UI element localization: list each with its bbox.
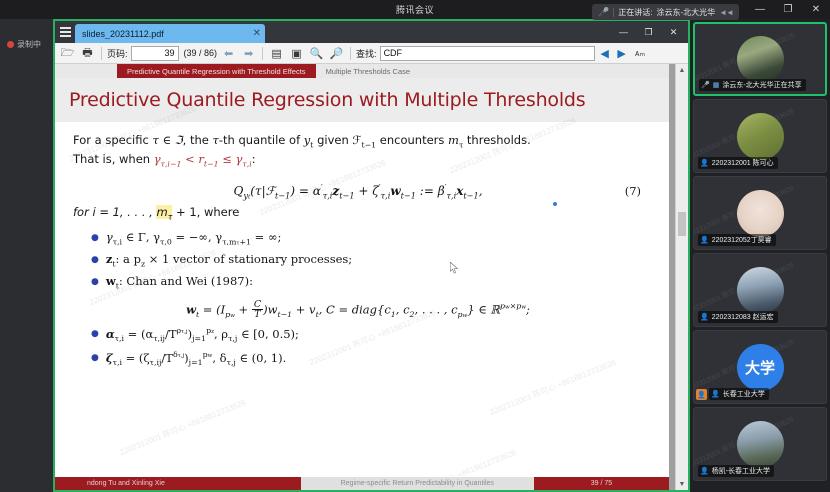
active-speaker-indicator: 🎤 正在讲话: 涂云东-北大光华 ◄◄ [592,4,739,20]
p2-part-g: τ,i [242,160,251,169]
match-case-icon[interactable]: ᴀₘ [632,45,649,62]
b3-b: : Chan and Wei (1987): [119,274,253,288]
tencent-meeting-window: 腾讯会议 — ❐ ✕ 🎤 正在讲话: 涂云东-北大光华 ◄◄ 录制中 [0,0,830,492]
eq7-r14: t−1 [463,190,478,200]
participant-roster[interactable]: 2202312001 陈可心 +8618812733626 🎤 ▦ 涂云东-北大… [690,19,830,492]
mouse-pointer-icon [450,262,459,275]
footer-authors: ndong Tu and Xinling Xie [55,480,301,487]
b1-b: ∈ Γ, γ [122,230,160,244]
p2-part-e: t−1 [204,160,219,169]
bullet-icon: ● [91,230,99,246]
participant-name: 2202312052丁昊睿 [712,235,772,245]
next-page-icon[interactable]: ➡ [240,45,257,62]
b2-c: × 1 vector of stationary processes; [145,252,352,266]
eqw-i-sup3: ×p [510,301,522,310]
eqw-f: , C = diag{c [319,302,391,316]
mic-icon: 🎤 [701,81,710,89]
pdf-maximize-icon[interactable]: ❐ [636,22,661,42]
participant-nametag-0: 🎤 ▦ 涂云东-北大光华正在共享 [699,79,806,91]
person-icon: 👤 [700,467,709,475]
b5-f: ∈ (0, 1). [236,350,286,364]
participant-name: 长春工业大学 [723,389,765,399]
person-icon: 👤 [700,236,709,244]
b5-b: = (ζ [122,350,150,364]
p2-part-f: ≤ γ [219,152,243,166]
bullet-1-text: γτ,i ∈ Γ, γτ,0 = −∞, γτ,mτ+1 = ∞; [106,230,282,246]
tab-close-icon[interactable]: ✕ [253,28,261,39]
meeting-app-title: 腾讯会议 [396,3,434,16]
open-file-icon[interactable]: 🗁 [59,45,76,62]
b4-c: /T [165,327,177,341]
b4-f: ∈ [0, 0.5); [237,327,299,341]
participant-name: 涂云东-北大光华正在共享 [722,80,801,90]
toolbar-separator-3 [350,47,351,60]
share-screen-icon: ▦ [713,81,720,89]
b1-s3: τ,m [222,237,236,246]
fraction-c-over-t: CT [252,300,263,321]
p2-part-d: < r [181,152,203,166]
slide-section-item: Multiple Thresholds Case [316,67,421,76]
watermark: 2202312001 陈可心 +8618812733626 [118,397,248,458]
pdf-reader-window: slides_20231112.pdf ✕ — ❐ ✕ 🗁 🖶 页码: (39 … [55,21,688,490]
pdf-vertical-scrollbar[interactable]: ▲ ▼ [675,64,688,490]
participant-tile-1[interactable]: 2202312001 陈可心 +8618812733626 👤 22023120… [693,99,827,173]
hamburger-menu-icon[interactable] [55,21,75,43]
bullet-4-text: ατ,i = (ατ,ij/Tρτ,j)j=1pz, ρτ,j ∈ [0, 0.… [106,326,299,343]
list-item: ● ατ,i = (ατ,ij/Tρτ,j)j=1pz, ρτ,j ∈ [0, … [91,326,643,343]
scrollbar-thumb[interactable] [678,212,686,236]
b1-s2: τ,0 [160,237,172,246]
p1-part-j: t−1 [361,140,376,149]
eqw-j: ; [526,302,530,316]
participant-name: 杨凯-长春工业大学 [712,466,770,476]
slide-body: 2202312001 陈可心 +8618812733626 2202312001… [55,122,669,474]
eq7-r4: τ,i [323,190,333,200]
b4-sub: j=1 [192,335,206,344]
footer-page-number: 39 / 75 [534,480,669,487]
b1-s3c: +1 [239,237,251,246]
b4-s3: τ,j [228,335,237,344]
equation-7-row: Qyt(τ|ℱt−1) = α′τ,izt−1 + ζ′τ,iwt−1 := β… [73,182,643,200]
b5-s: τ,i [113,358,122,367]
scroll-down-icon[interactable]: ▼ [676,478,688,490]
equation-w-process: wt = (Ipw + CT)wt−1 + vt, C = diag{c1, c… [73,300,643,321]
participant-nametag-4: 👤 长春工业大学 [709,388,769,400]
for-line-b: + 1, where [172,205,239,219]
avatar [737,190,784,237]
b1-a: γ [106,230,113,244]
participant-tile-2[interactable]: 2202312001 陈可心 +8618812733626 👤 22023120… [693,176,827,250]
slide-paragraph-1: For a specific τ ∈ ℑ, the τ-th quantile … [73,132,643,151]
slide-section-active: Predictive Quantile Regression with Thre… [117,64,316,78]
participant-nametag-3: 👤 2202312083 赵运宏 [698,311,778,323]
b1-d: = ∞; [251,230,281,244]
eq7-r3: ) = α [290,184,320,198]
eq7-r15: , [479,184,483,198]
pdf-tab-title: slides_20231112.pdf [82,29,247,39]
list-item: ● wt: Chan and Wei (1987): [91,274,643,290]
recording-badge: 录制中 [7,39,41,50]
eqw-e: + v [292,302,315,316]
print-icon[interactable]: 🖶 [79,45,96,62]
p1-part-e: -th quantile of [219,133,304,147]
participant-name: 2202312083 赵运宏 [712,312,774,322]
page-label: 页码: [107,47,128,60]
find-next-icon[interactable]: ▶ [615,47,629,60]
slide-paragraph-2: That is, when γτ,i−1 < rt−1 ≤ γτ,i: [73,151,643,170]
participant-tile-4[interactable]: 2202312001 陈可心 +8618812733626 大学 👤 👤 长春工… [693,330,827,404]
laser-pointer-dot [553,202,557,206]
eq7-r1: (τ|ℱ [250,184,275,198]
footer-paper-title: Regime-specific Return Predictability in… [301,477,534,490]
list-item: ● γτ,i ∈ Γ, γτ,0 = −∞, γτ,mτ+1 = ∞; [91,230,643,246]
p1-part-k: encounters [376,133,448,147]
slide-title-band: Predictive Quantile Regression with Mult… [55,78,669,122]
bullet-icon: ● [91,252,99,268]
list-item: ● ζτ,i = (ζτ,ij/Tδτ,j)j=1pw, δτ,j ∈ (0, … [91,350,643,367]
shared-screen-frame: slides_20231112.pdf ✕ — ❐ ✕ 🗁 🖶 页码: (39 … [53,19,690,492]
meeting-window-controls: — ❐ ✕ [746,0,830,19]
participant-tile-5[interactable]: 2202312001 陈可心 +8618812733626 👤 杨凯-长春工业大… [693,407,827,481]
eq7-r11: := β [416,184,445,198]
avatar [737,421,784,468]
b5-a: ζ [106,350,113,364]
eqw-h: , . . . , c [415,302,458,316]
b4-s: τ,i [115,335,124,344]
person-icon: 👤 [711,390,720,398]
eqw-i: } ∈ ℝ [467,302,500,316]
pdf-tab[interactable]: slides_20231112.pdf ✕ [75,24,265,43]
equation-7: Qyt(τ|ℱt−1) = α′τ,izt−1 + ζ′τ,iwt−1 := β… [233,182,482,200]
pdf-close-icon[interactable]: ✕ [661,22,686,42]
eqw-d-s: t−1 [277,309,292,318]
b4-b: = (α [124,327,153,341]
slide-footer: ndong Tu and Xinling Xie Regime-specific… [55,477,669,490]
page-title: Predictive Quantile Regression with Mult… [69,89,585,111]
participant-nametag-5: 👤 杨凯-长春工业大学 [698,465,774,477]
p2-part-b: γ [154,152,161,166]
slide-page: Predictive Quantile Regression with Thre… [55,64,669,490]
p1-part-n: thresholds. [463,133,530,147]
audio-wave-icon: ◄◄ [719,8,733,17]
p1-part-c: , the [183,133,213,147]
p2-part-a: That is, when [73,152,154,166]
participant-tile-3[interactable]: 2202312001 陈可心 +8618812733626 👤 22023120… [693,253,827,327]
eq7-r12: τ,i [447,190,457,200]
participant-nametag-1: 👤 2202312001 陈可心 [698,157,778,169]
speaking-name: 涂云东-北大光华 [656,7,715,18]
slide-navigation-bar: Predictive Quantile Regression with Thre… [55,64,669,78]
avatar [737,267,784,314]
eq7-r6: t−1 [339,190,354,200]
minimize-icon[interactable]: — [746,0,774,19]
eq7-q: Q [233,184,243,198]
p2-part-c: τ,i−1 [161,160,182,169]
page-total-label: (39 / 86) [184,48,218,58]
b4-a: α [106,327,115,341]
bullet-3-text: wt: Chan and Wei (1987): [106,274,253,290]
fit-page-icon[interactable]: ▣ [288,45,305,62]
eqw-d: )w [263,302,277,316]
find-input[interactable] [380,46,595,61]
p1-part-b: τ ∈ ℑ [152,133,182,147]
avatar: 大学 [737,344,784,391]
avatar-initials: 大学 [745,357,775,378]
eq7-r10: t−1 [401,190,416,200]
b4-s2: τ,ij [153,335,165,344]
page-number-input[interactable] [131,46,179,61]
b2-b: : a p [116,252,141,266]
fit-width-icon[interactable]: ▤ [268,45,285,62]
bullet-5-text: ζτ,i = (ζτ,ij/Tδτ,j)j=1pw, δτ,j ∈ (0, 1)… [106,350,286,367]
close-icon[interactable]: ✕ [802,0,830,19]
b1-c: = −∞, γ [172,230,222,244]
eq7-r8: τ,i [381,190,391,200]
participant-tile-0[interactable]: 2202312001 陈可心 +8618812733626 🎤 ▦ 涂云东-北大… [693,22,827,96]
person-icon: 👤 [700,313,709,321]
previous-page-icon[interactable]: ⬅ [220,45,237,62]
toolbar-separator [101,47,102,60]
equation-number: (7) [625,184,641,198]
p2-part-h: : [252,152,256,166]
eqw-a: w [186,302,196,316]
toolbar-separator-2 [262,47,263,60]
avatar [737,36,784,83]
b1-s1: τ,i [113,237,122,246]
highlighted-m-tau: mτ [156,205,172,219]
bullet-2-text: zt: a pz × 1 vector of stationary proces… [106,252,352,268]
pill-divider [613,8,614,17]
for-line-a: for i = 1, . . . , [73,205,156,219]
b5-s3: τ,j [227,358,236,367]
participant-name: 2202312001 陈可心 [712,158,774,168]
bullet-icon: ● [91,326,99,342]
zoom-in-icon[interactable]: 🔎 [328,45,345,62]
host-icon: 👤 [696,389,707,400]
b3-a: w [106,274,116,288]
fraction-denominator: T [252,310,263,320]
eq7-r7: + ζ [355,184,379,198]
for-line: for i = 1, . . . , mτ + 1, where [73,204,643,223]
eqw-b: = (I [199,302,225,316]
bullet-icon: ● [91,274,99,290]
scroll-up-icon[interactable]: ▲ [676,64,688,76]
p1-part-l: m [448,133,459,147]
for-line-hl: m [156,205,167,219]
avatar [737,113,784,160]
zoom-out-icon[interactable]: 🔍 [308,45,325,62]
b5-s2: τ,ij [150,358,162,367]
pdf-minimize-icon[interactable]: — [611,22,636,42]
person-icon: 👤 [700,159,709,167]
eq7-r2: t−1 [275,190,290,200]
recording-dot-icon [7,41,14,48]
find-label: 查找: [356,47,377,60]
b5-e: , δ [212,350,226,364]
speaking-label: 正在讲话: [618,7,652,18]
left-rail: 录制中 [0,19,53,492]
p1-part-h: given [313,133,352,147]
pdf-tabbar: slides_20231112.pdf ✕ — ❐ ✕ [55,21,688,43]
list-item: ● zt: a pz × 1 vector of stationary proc… [91,252,643,268]
eqw-c: + [235,302,252,316]
b5-sub: j=1 [189,358,203,367]
bullet-icon: ● [91,350,99,366]
eqw-g: , c [396,302,410,316]
recording-label: 录制中 [17,39,41,50]
eq7-r9: w [390,184,400,198]
b4-e: , ρ [214,327,228,341]
b5-c: /T [161,350,173,364]
find-previous-icon[interactable]: ◀ [598,47,612,60]
pdf-toolbar: 🗁 🖶 页码: (39 / 86) ⬅ ➡ ▤ ▣ 🔍 🔎 查找: ◀ ▶ ᴀₘ [55,43,688,64]
maximize-icon[interactable]: ❐ [774,0,802,19]
p1-part-a: For a specific [73,133,152,147]
participant-nametag-2: 👤 2202312052丁昊睿 [698,234,776,246]
pdf-page-canvas[interactable]: Predictive Quantile Regression with Thre… [55,64,688,490]
speaking-mic-icon: 🎤 [598,7,609,18]
pdf-window-controls: — ❐ ✕ [611,21,686,43]
